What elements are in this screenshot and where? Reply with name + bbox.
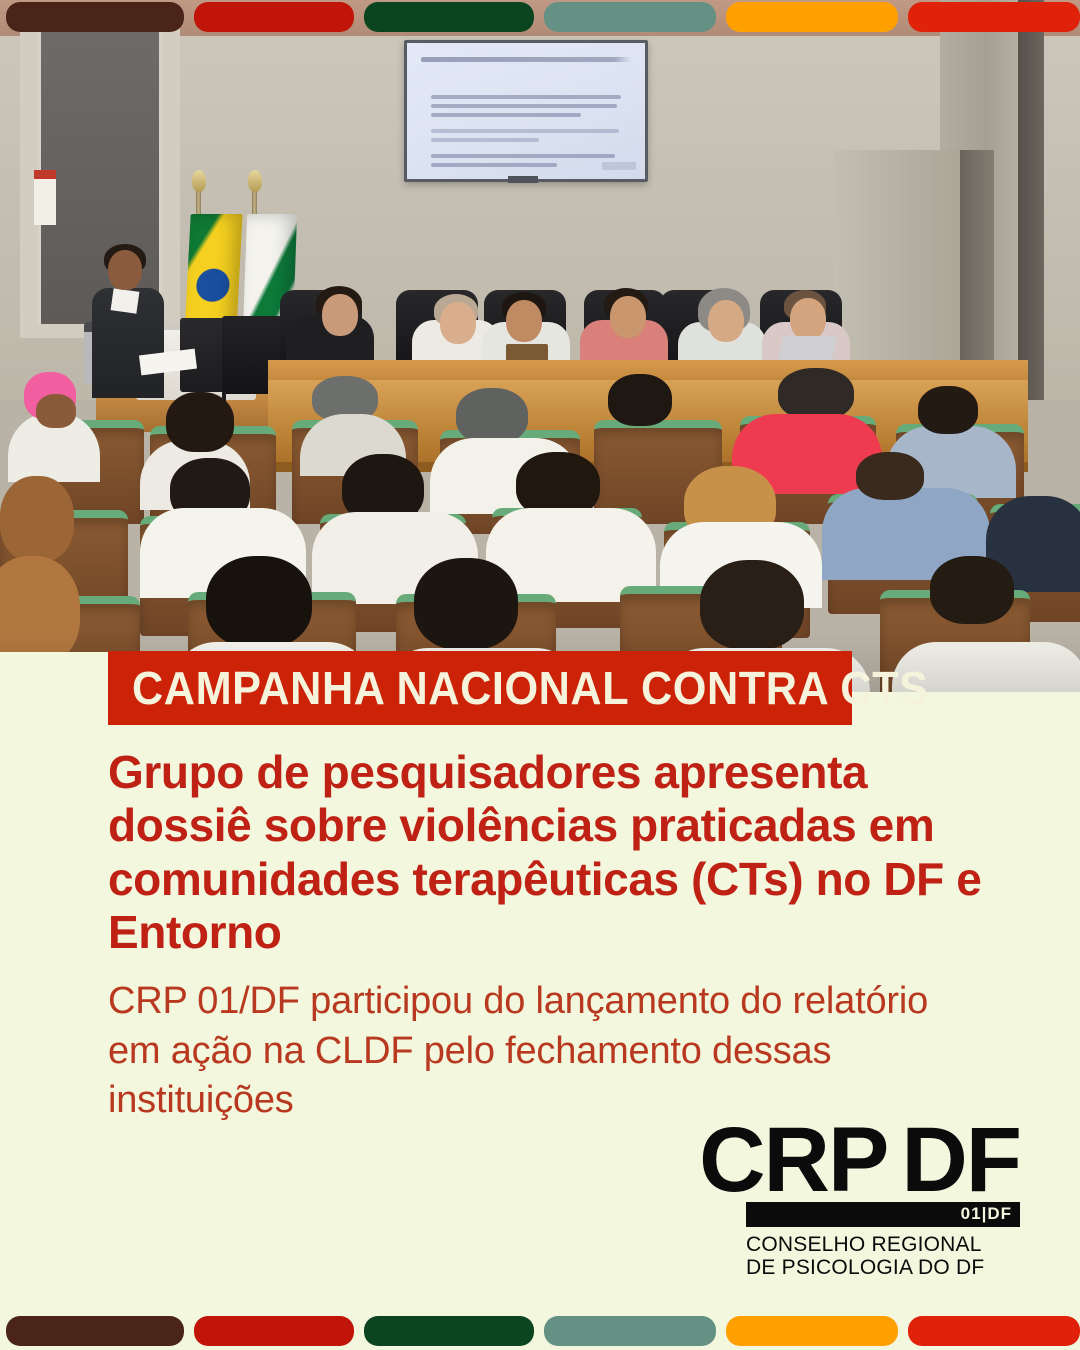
top-bar-bright-red xyxy=(908,2,1080,32)
flagpole-finial-brazil xyxy=(192,170,206,192)
auditorium-door xyxy=(38,24,162,324)
attendant-collar xyxy=(111,288,140,313)
logo-subtitle-line-2: DE PSICOLOGIA DO DF xyxy=(746,1256,1020,1280)
photo-bottom-left-notch xyxy=(0,652,108,692)
slide-line xyxy=(431,138,539,142)
flagpole-finial-df xyxy=(248,170,262,192)
panelist-head xyxy=(322,294,358,336)
campaign-kicker-label: CAMPANHA NACIONAL CONTRA CTS xyxy=(132,665,928,711)
slide-line xyxy=(431,163,557,167)
slide-footer-mark xyxy=(602,162,636,170)
top-bar-dark-brown xyxy=(6,2,184,32)
bottom-bar-sage xyxy=(544,1316,716,1346)
page-headline: Grupo de pesquisadores apresenta dossiê … xyxy=(108,746,988,959)
audience-head xyxy=(856,452,924,500)
crp-df-logo: CRP DF 01|DF CONSELHO REGIONAL DE PSICOL… xyxy=(746,1121,1020,1280)
text-content-block: Grupo de pesquisadores apresenta dossiê … xyxy=(108,746,1008,1126)
panelist-head xyxy=(610,296,646,338)
slide-title-line xyxy=(421,57,631,62)
audience-head xyxy=(608,374,672,426)
hero-photo xyxy=(0,0,1080,692)
top-bar-sage xyxy=(544,2,716,32)
slide-line xyxy=(431,104,617,108)
panelist-head xyxy=(506,300,542,342)
bottom-bar-dark-green xyxy=(364,1316,534,1346)
audience-curly-hair xyxy=(0,476,74,562)
audience-head-curly xyxy=(166,392,234,452)
audience-dark-cap xyxy=(778,368,854,420)
audience-cap xyxy=(456,388,528,444)
projection-screen xyxy=(404,40,648,182)
photo-scene xyxy=(0,0,1080,692)
panelist-head xyxy=(790,298,826,340)
bottom-bar-dark-brown xyxy=(6,1316,184,1346)
logo-subtitle-line-1: CONSELHO REGIONAL xyxy=(746,1233,1020,1257)
logo-subtitle: CONSELHO REGIONAL DE PSICOLOGIA DO DF xyxy=(746,1233,1020,1280)
slide-line xyxy=(431,113,581,117)
top-bar-orange xyxy=(726,2,898,32)
logo-wordmark: CRP DF xyxy=(746,1121,1020,1200)
attendant-head xyxy=(108,250,142,290)
top-color-bar-strip xyxy=(0,2,1080,32)
top-bar-red xyxy=(194,2,354,32)
screen-mount xyxy=(508,176,538,183)
logo-wordmark-crp: CRP xyxy=(699,1121,887,1200)
page-subheadline: CRP 01/DF participou do lançamento do re… xyxy=(108,977,968,1125)
panelist-head xyxy=(708,300,744,342)
bottom-bar-red xyxy=(194,1316,354,1346)
slide-line xyxy=(431,154,615,158)
wall-sign xyxy=(34,170,56,225)
logo-region-label: 01|DF xyxy=(961,1204,1012,1224)
logo-wordmark-df: DF xyxy=(901,1121,1020,1200)
bottom-color-bar-strip xyxy=(0,1316,1080,1346)
top-bar-dark-green xyxy=(364,2,534,32)
audience-head xyxy=(36,394,76,428)
slide-line xyxy=(431,95,621,99)
bottom-bar-bright-red xyxy=(908,1316,1080,1346)
audience-head xyxy=(918,386,978,434)
audience-head xyxy=(930,556,1014,624)
wall-dark-panel xyxy=(1018,0,1044,400)
bottom-bar-orange xyxy=(726,1316,898,1346)
campaign-kicker-banner: CAMPANHA NACIONAL CONTRA CTS xyxy=(108,651,852,725)
slide-line xyxy=(431,129,619,133)
panelist-head xyxy=(440,302,476,344)
